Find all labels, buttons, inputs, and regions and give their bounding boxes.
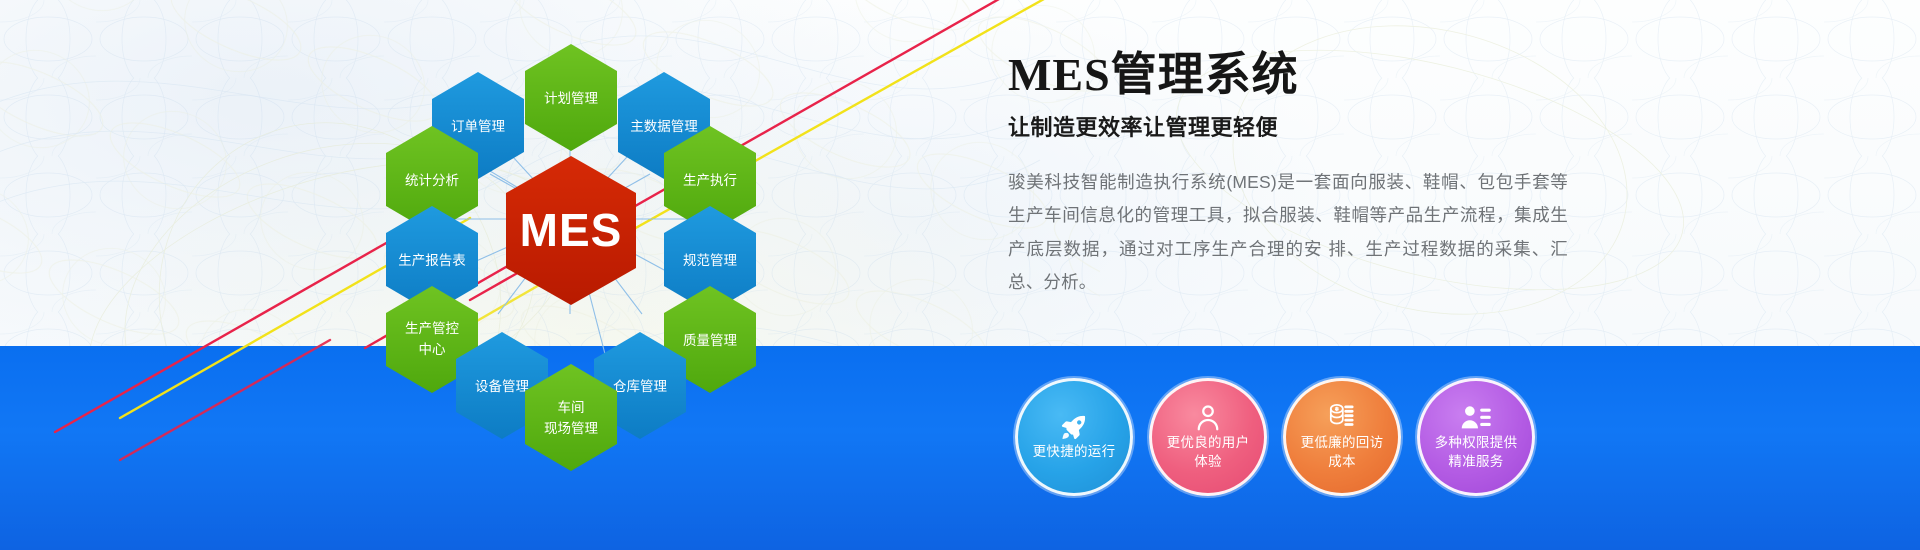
hex-label-report: 生产报告表 — [398, 253, 466, 268]
hex-label-workshop-line2: 现场管理 — [544, 421, 598, 436]
badge-label: 更低廉的回访成本 — [1293, 434, 1392, 470]
hero-text-block: MES管理系统 让制造更效率让管理更轻便 骏美科技智能制造执行系统(MES)是一… — [1008, 50, 1608, 300]
hex-node-planning[interactable]: 计划管理 — [525, 44, 617, 151]
hero-description: 骏美科技智能制造执行系统(MES)是一套面向服装、鞋帽、包包手套等生产车间信息化… — [1008, 166, 1568, 300]
badge-label: 多种权限提供精准服务 — [1427, 434, 1526, 470]
hex-label-quality: 质量管理 — [683, 333, 737, 348]
bottom-blue-band — [0, 346, 1920, 550]
hex-label-masterdata: 主数据管理 — [630, 119, 698, 134]
rocket-icon — [1059, 412, 1089, 442]
badge-faster-operation[interactable]: 更快捷的运行 — [1015, 378, 1133, 496]
hex-label-execution: 生产执行 — [683, 173, 737, 188]
badge-lower-revisit-cost[interactable]: 更低廉的回访成本 — [1283, 378, 1401, 496]
badge-multi-permission[interactable]: 多种权限提供精准服务 — [1417, 378, 1535, 496]
hex-label-control-center-line2: 中心 — [419, 342, 446, 357]
user-icon — [1193, 403, 1223, 433]
badge-label: 更优良的用户体验 — [1159, 434, 1258, 470]
hex-center-label: MES — [520, 204, 623, 256]
contacts-icon — [1460, 403, 1492, 433]
hex-diagram: MES 计划管理 订单管理 主数据管理 生产执行 — [330, 14, 810, 444]
hex-label-specification: 规范管理 — [683, 253, 737, 268]
hex-label-order: 订单管理 — [451, 119, 505, 134]
page-subtitle: 让制造更效率让管理更轻便 — [1008, 110, 1608, 142]
page-title: MES管理系统 — [1008, 50, 1608, 100]
hex-label-planning: 计划管理 — [544, 91, 598, 106]
badge-better-user-experience[interactable]: 更优良的用户体验 — [1149, 378, 1267, 496]
hex-node-center[interactable]: MES — [506, 156, 636, 305]
hex-label-statistics: 统计分析 — [405, 173, 459, 188]
feature-badges: 更快捷的运行 更优良的用户体验 — [1015, 378, 1535, 496]
hex-label-equipment: 设备管理 — [475, 378, 529, 394]
mes-banner: MES 计划管理 订单管理 主数据管理 生产执行 — [0, 0, 1920, 550]
hex-label-warehouse: 仓库管理 — [613, 379, 667, 394]
coins-icon — [1328, 403, 1356, 433]
hex-label-workshop-line1: 车间 — [558, 399, 585, 415]
badge-label: 更快捷的运行 — [1025, 443, 1124, 461]
hex-label-control-center-line1: 生产管控 — [405, 321, 459, 336]
